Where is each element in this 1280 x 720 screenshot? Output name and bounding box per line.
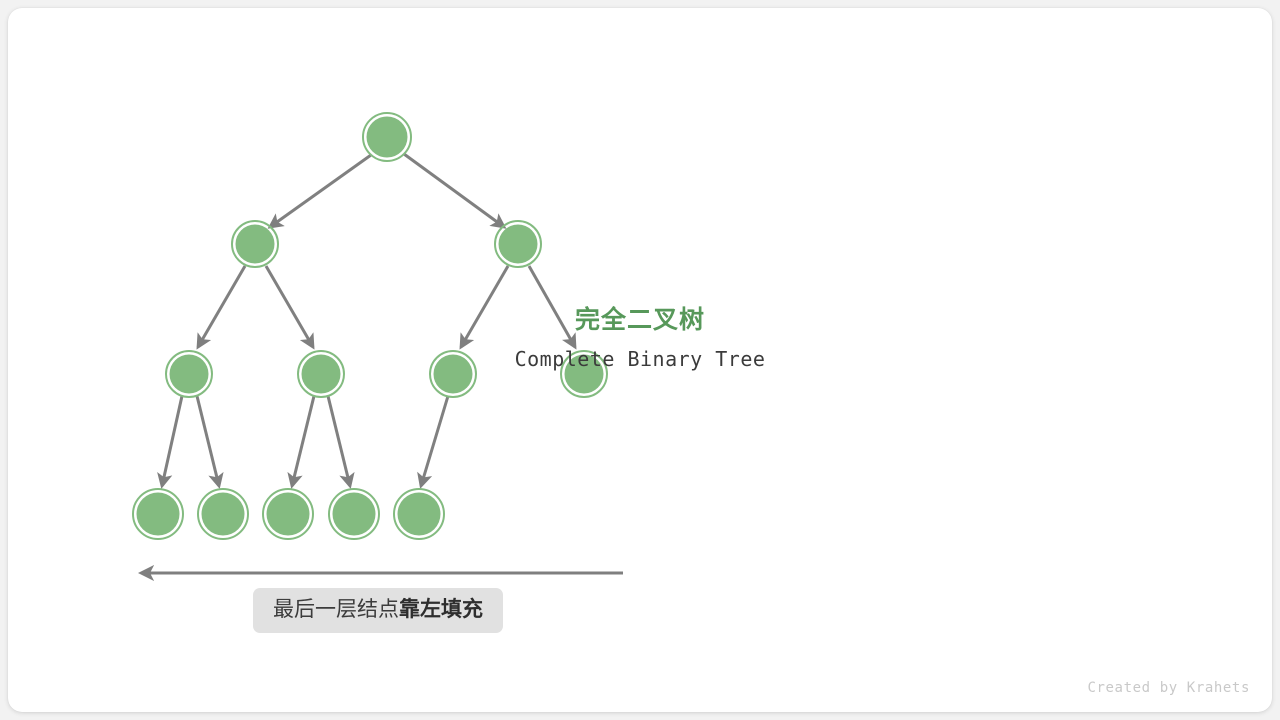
edge-n6-n12 (421, 396, 448, 486)
tree-node[interactable] (232, 221, 278, 267)
tree-node-leaf[interactable] (263, 489, 313, 539)
screenshot-root: 完全二叉树 Complete Binary Tree 最后一层结点靠左填充 Cr… (0, 0, 1280, 720)
legend-title-zh: 完全二叉树 (8, 300, 1272, 336)
credit-text: Created by Krahets (1087, 680, 1250, 696)
legend-title-en: Complete Binary Tree (8, 347, 1272, 371)
tree-node-leaf[interactable] (394, 489, 444, 539)
edge-n4-n8 (162, 396, 182, 486)
caption-text-bold: 靠左填充 (399, 598, 483, 621)
tree-node[interactable] (495, 221, 541, 267)
edge-n1-n3 (404, 154, 504, 227)
edge-n5-n10 (292, 396, 314, 486)
edge-n5-n11 (328, 396, 350, 486)
tree-node-leaf[interactable] (198, 489, 248, 539)
tree-node-leaf[interactable] (133, 489, 183, 539)
caption-badge: 最后一层结点靠左填充 (253, 588, 503, 633)
caption-text-normal: 最后一层结点 (273, 598, 399, 621)
caption-wrapper: 最后一层结点靠左填充 (226, 588, 530, 633)
edge-n1-n2 (270, 155, 371, 227)
tree-node-leaf[interactable] (329, 489, 379, 539)
content-card: 完全二叉树 Complete Binary Tree 最后一层结点靠左填充 Cr… (8, 8, 1272, 712)
edge-n4-n9 (197, 396, 219, 486)
tree-node-root[interactable] (363, 113, 411, 161)
